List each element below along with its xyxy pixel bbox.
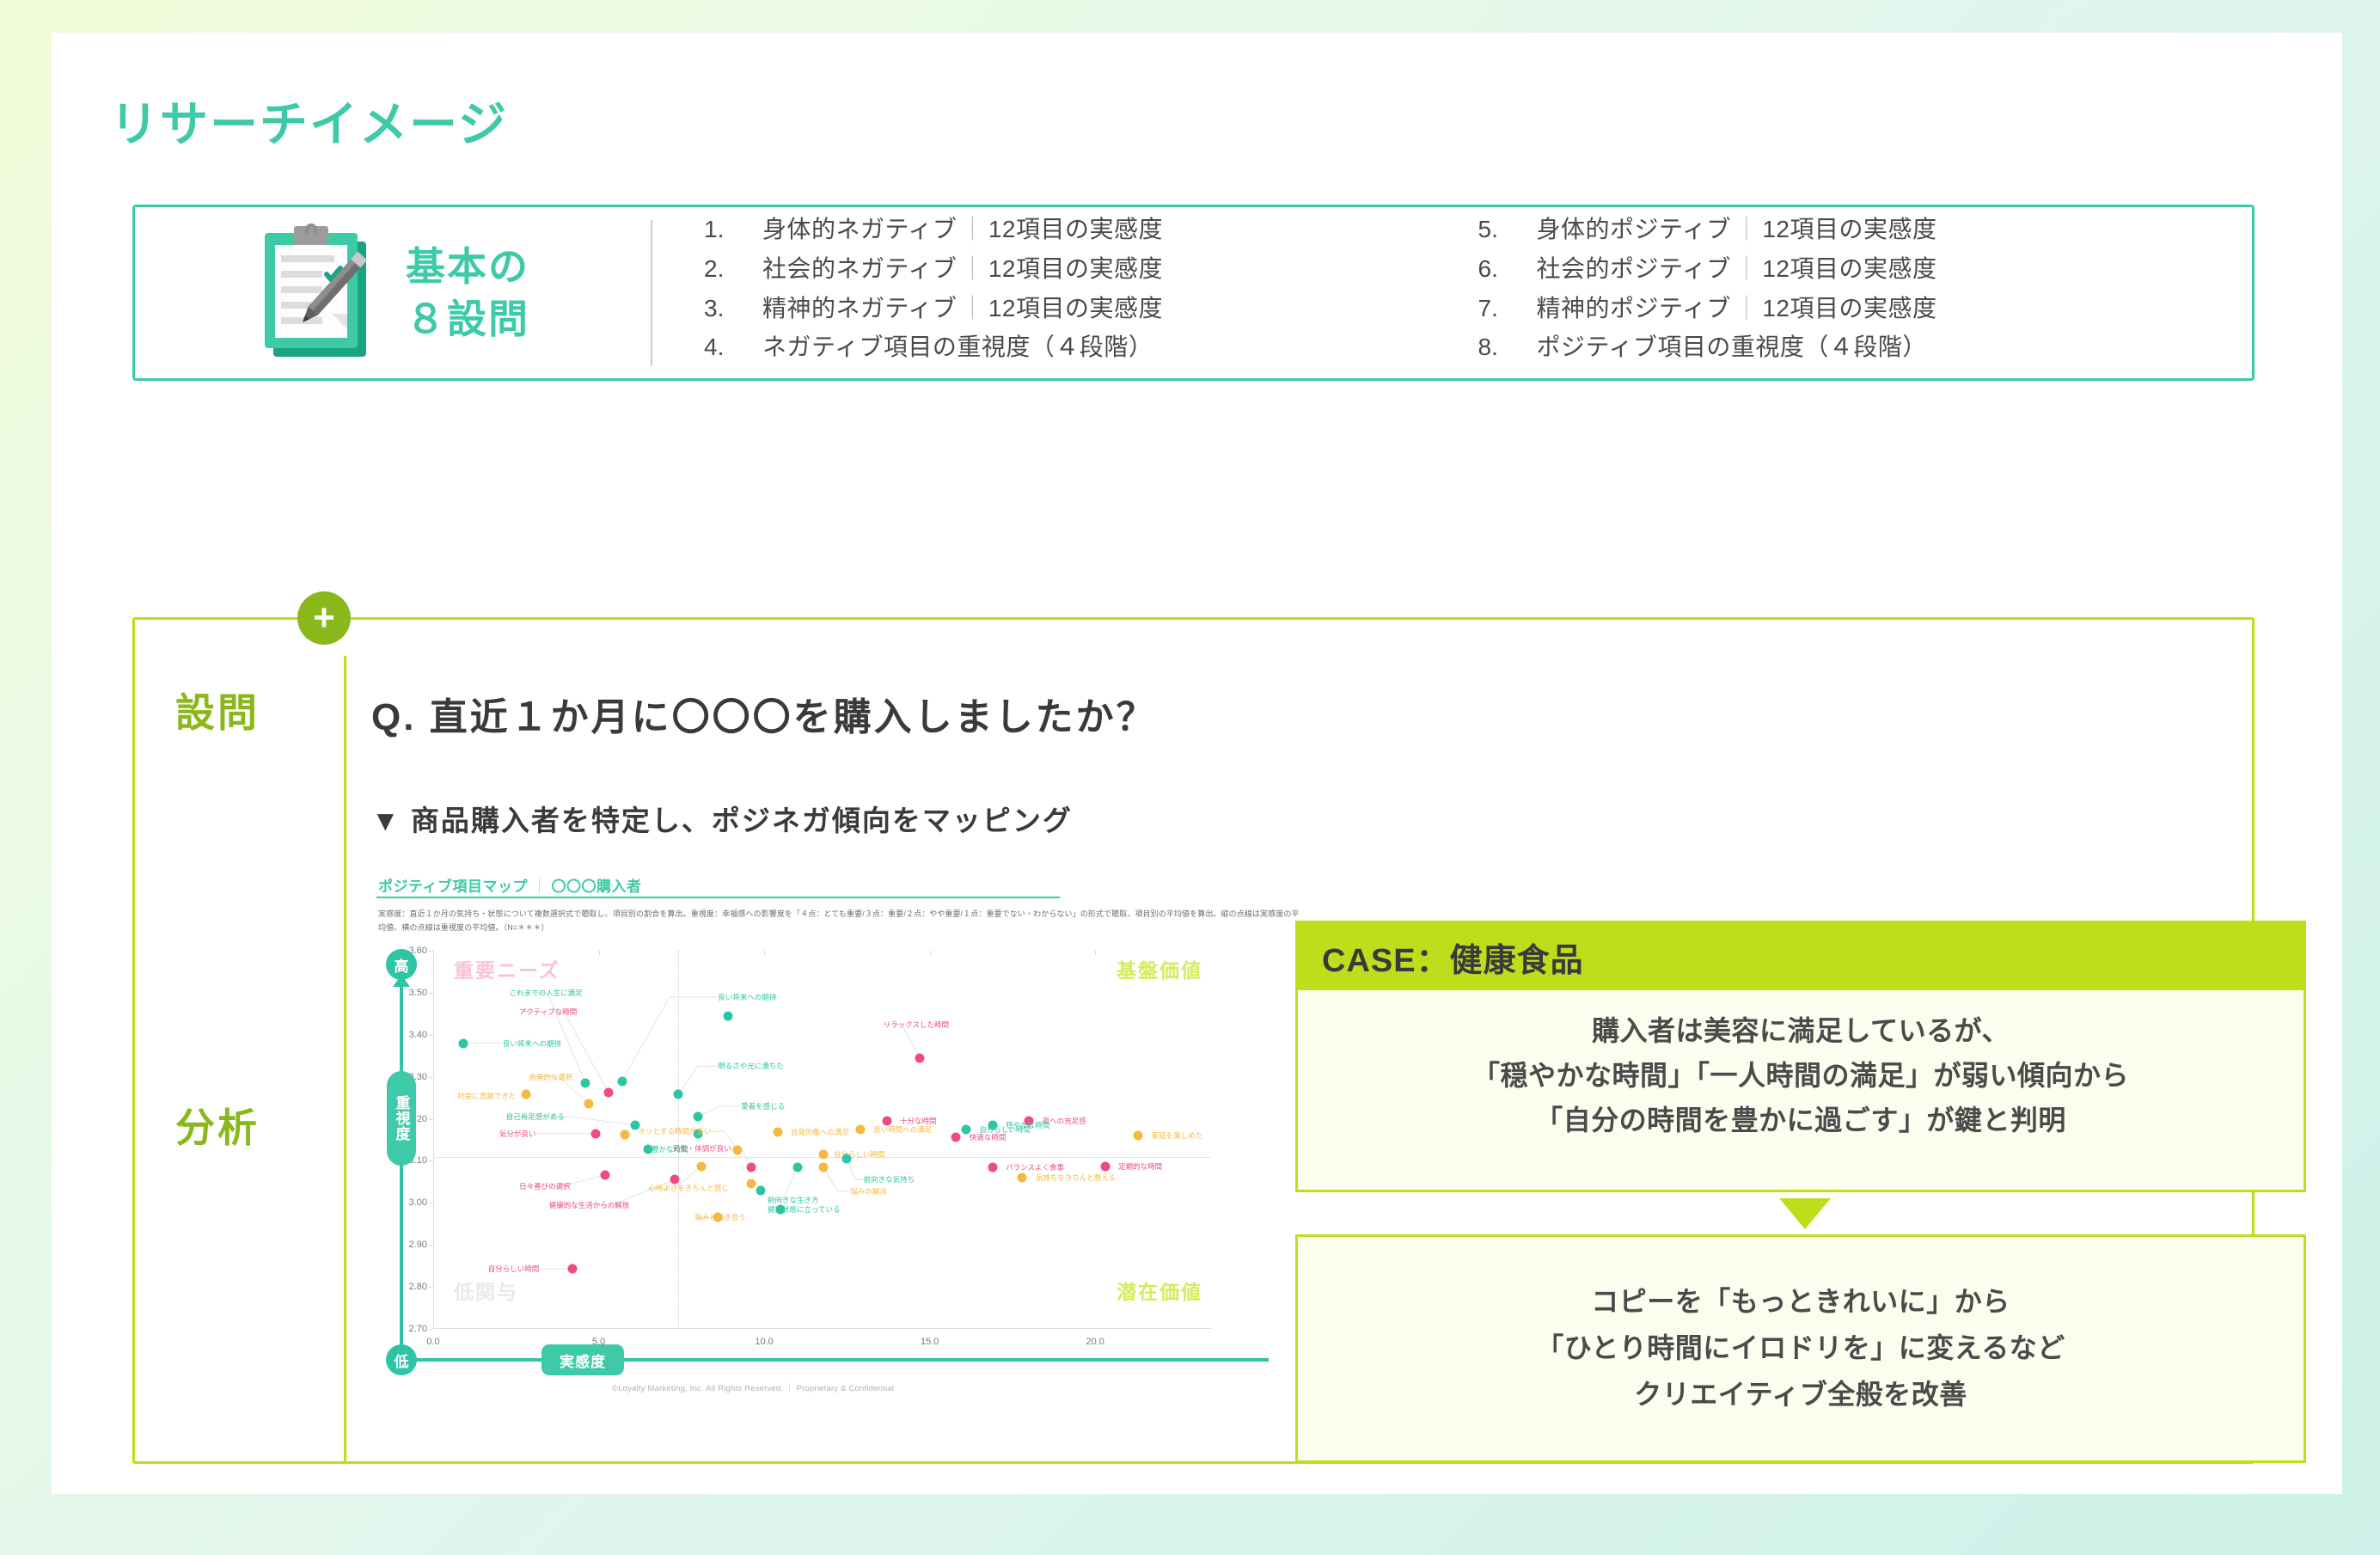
question-text: 精神的ポジティブ｜12項目の実感度 [1537,293,1937,325]
question-number: 2. [704,254,762,285]
slide-card: リサーチイメージ [52,33,2342,1494]
scatter-point-label: 気持ちをきちんと整える [1036,1172,1116,1183]
scatter-point-label: 自己肯定感がある [506,1111,565,1122]
scatter-point[interactable] [673,1090,682,1099]
scatter-chart: 重要ニーズ 基盤価値 低関与 潜在価値 2.702.802.903.003.10… [433,951,1211,1329]
question-number: 4. [704,332,762,364]
case-panel-line: 「自分の時間を豊かに過ごす」が鍵と判明 [1315,1099,2286,1143]
result-panel: コピーを「もっときれいに」から「ひとり時間にイロドリを」に変えるなどクリエイティ… [1295,1234,2306,1463]
scatter-point[interactable] [746,1162,756,1172]
scatter-point-label: 健康状態に立っている [768,1204,841,1215]
report-title-main: ポジティブ項目マップ [378,879,528,895]
scatter-point-label: 家庭を楽しめた [1152,1130,1203,1141]
question-number: 8. [1478,332,1537,364]
analysis-inner-divider [344,656,346,1464]
question-text: 精神的ネガティブ｜12項目の実感度 [762,293,1163,325]
scatter-point[interactable] [915,1053,925,1062]
question-number: 5. [1478,214,1537,246]
question-text: 社会的ポジティブ｜12項目の実感度 [1537,254,1937,285]
report-title-separator: ｜ [528,879,552,895]
basic-questions-label: 基本の ８設問 [406,241,529,345]
scatter-point[interactable] [1100,1161,1110,1171]
scatter-point[interactable] [694,1112,703,1122]
scatter-point-label: 悩みの解消 [850,1186,887,1197]
scatter-point-label: これまでの人生に満足 [510,988,583,998]
report-title-rule [376,897,1060,898]
scatter-point[interactable] [584,1099,594,1108]
y-axis-tick-label: 3.40 [409,1030,427,1040]
scatter-point-label: 良い将来への期待 [718,992,776,1002]
question-text: 社会的ネガティブ｜12項目の実感度 [762,254,1163,285]
plus-icon: + [297,591,351,645]
scatter-point[interactable] [617,1076,627,1086]
scatter-point-label: 良い将来への期待 [503,1038,561,1049]
result-panel-line: 「ひとり時間にイロドリを」に変えるなど [1536,1325,2065,1372]
scatter-point[interactable] [621,1130,630,1140]
scatter-point[interactable] [1018,1173,1027,1183]
scatter-point-label: 明るさや光に満ちた [718,1061,784,1071]
question-heading: Q. 直近１か月に〇〇〇を購入しましたか？ [371,686,1157,741]
scatter-point-label: 自分らしい時間 [488,1264,540,1274]
report-title-target: 〇〇〇購入者 [551,879,641,895]
scatter-point[interactable] [723,1011,732,1020]
axis-y-cap-low: 低 [386,1344,417,1375]
scatter-point[interactable] [521,1090,530,1099]
question-item: 3.精神的ネガティブ｜12項目の実感度 [704,293,1478,325]
section-label-analysis: 分析 [175,1097,260,1154]
axis-x-line [401,1358,1269,1362]
report-title: ポジティブ項目マップ｜〇〇〇購入者 [378,874,641,896]
question-item: 5.身体的ポジティブ｜12項目の実感度 [1478,214,2253,246]
report-note: 実感度：直近１か月の気持ち・状態について複数選択式で聴取し、項目別の割合を算出。… [378,908,1300,935]
scatter-point-label: 定期的な時間 [1118,1161,1162,1172]
scatter-point[interactable] [458,1038,468,1048]
scatter-point-label: リラックスした時間 [884,1019,949,1030]
scatter-point[interactable] [604,1088,614,1098]
case-panel-header: CASE：健康食品 [1298,923,2304,990]
scatter-point-label: バランスよく食事 [1006,1162,1064,1172]
result-panel-line: クリエイティブ全般を改善 [1536,1372,2065,1418]
scatter-point[interactable] [601,1171,610,1180]
case-panel: CASE：健康食品 購入者は美容に満足しているが、「穏やかな時間」「一人時間の満… [1295,921,2306,1192]
basic-questions-box: 基本の ８設問 1.身体的ネガティブ｜12項目の実感度2.社会的ネガティブ｜12… [132,205,2255,381]
scatter-point[interactable] [696,1161,706,1171]
question-text: 身体的ポジティブ｜12項目の実感度 [1537,214,1937,246]
y-axis-tick-label: 3.00 [409,1197,427,1208]
scatter-point[interactable] [581,1079,590,1088]
question-column-left: 1.身体的ネガティブ｜12項目の実感度2.社会的ネガティブ｜12項目の実感度3.… [704,214,1478,372]
y-axis-tick-label: 2.90 [409,1240,427,1250]
question-item: 2.社会的ネガティブ｜12項目の実感度 [704,254,1478,285]
scatter-point-label: 心地よさをきちんと感じ [648,1183,729,1193]
case-panel-line: 購入者は美容に満足しているが、 [1315,1009,2286,1054]
question-column-right: 5.身体的ポジティブ｜12項目の実感度6.社会的ポジティブ｜12項目の実感度7.… [1478,214,2253,372]
scatter-point-label: 健康的な生活からの解放 [549,1200,630,1210]
scatter-point[interactable] [819,1150,829,1160]
down-arrow-icon [1779,1198,1831,1229]
y-axis-tick-label: 2.80 [409,1282,427,1292]
scatter-point-label: 自発的な選択 [529,1072,573,1082]
scatter-point[interactable] [756,1185,766,1195]
scatter-point-label: 愛着を感じる [741,1101,785,1111]
result-panel-body: コピーを「もっときれいに」から「ひとり時間にイロドリを」に変えるなどクリエイティ… [1519,1279,2083,1417]
question-text: ポジティブ項目の重視度（４段階） [1537,332,1927,364]
question-item: 4.ネガティブ項目の重視度（４段階） [704,332,1478,364]
scatter-point[interactable] [567,1264,577,1274]
scatter-point[interactable] [842,1154,852,1164]
scatter-point-label: 元気・体調が良い [673,1143,731,1154]
scatter-point-label: 快適な時間 [970,1132,1006,1142]
case-panel-line: 「穏やかな時間」「一人時間の満足」が弱い傾向から [1315,1054,2286,1099]
y-axis-tick-label: 2.70 [409,1324,427,1334]
scatter-point-label: ホッとする時間が多い [639,1126,712,1136]
scatter-point[interactable] [951,1132,961,1142]
x-axis-tick-label: 15.0 [921,1337,939,1347]
scatter-point[interactable] [855,1124,865,1134]
scatter-point[interactable] [792,1162,802,1172]
question-number: 3. [704,293,762,325]
basic-questions-brand: 基本の ８設問 [135,221,651,365]
scatter-point-label: 気分が良い [499,1129,536,1139]
scatter-point-label: 良い時間への満足 [873,1124,932,1135]
question-number: 7. [1478,293,1537,325]
axis-x-badge: 実感度 [541,1344,624,1375]
scatter-point[interactable] [988,1162,997,1172]
basic-label-line2: ８設問 [406,293,529,346]
scatter-point-label: アクティブな時間 [519,1007,577,1017]
report-footer: ©Loyalty Marketing, Inc. All Rights Rese… [612,1381,894,1393]
page-title: リサーチイメージ [110,86,508,156]
question-item: 1.身体的ネガティブ｜12項目の実感度 [704,214,1478,246]
question-subheading: ▼ 商品購入者を特定し、ポジネガ傾向をマッピング [371,798,1073,839]
basic-questions-list: 1.身体的ネガティブ｜12項目の実感度2.社会的ネガティブ｜12項目の実感度3.… [652,214,2252,372]
embedded-report: ポジティブ項目マップ｜〇〇〇購入者 実感度：直近１か月の気持ち・状態について複数… [371,866,1300,1434]
question-text: ネガティブ項目の重視度（４段階） [762,332,1153,364]
scatter-point-label: 社会に貢献できた [457,1091,516,1101]
question-item: 8.ポジティブ項目の重視度（４段階） [1478,332,2253,364]
question-item: 7.精神的ポジティブ｜12項目の実感度 [1478,293,2253,325]
clipboard-checklist-pen-icon [256,221,383,365]
scatter-point[interactable] [819,1162,829,1172]
question-number: 1. [704,214,762,246]
scatter-point[interactable] [590,1129,600,1138]
scatter-point-label: 自発的働への満足 [791,1127,849,1137]
scatter-point-label: 日々喜びの選択 [519,1181,571,1191]
question-text: 身体的ネガティブ｜12項目の実感度 [762,214,1163,246]
question-number: 6. [1478,254,1537,285]
x-axis-tick-label: 10.0 [755,1337,773,1347]
question-item: 6.社会的ポジティブ｜12項目の実感度 [1478,254,2253,285]
basic-label-line1: 基本の [406,241,529,293]
scatter-point[interactable] [746,1178,756,1188]
scatter-point[interactable] [1134,1131,1143,1141]
scatter-point-label: 前向きな気持ち [864,1174,915,1185]
axis-y-badge: 重視度 [387,1071,416,1166]
x-axis-tick-label: 20.0 [1086,1337,1104,1347]
scatter-point[interactable] [773,1128,782,1137]
axis-y-cap-high: 高 [386,949,417,980]
x-axis-tick-label: 0.0 [426,1337,439,1347]
scatter-point-label: 悩みと向き合う [694,1212,746,1222]
scatter-point[interactable] [733,1146,743,1155]
y-axis-tick-mark [429,1329,433,1330]
section-label-question: 設問 [175,682,260,738]
case-panel-body: 購入者は美容に満足しているが、「穏やかな時間」「一人時間の満足」が弱い傾向から「… [1298,990,2304,1142]
y-axis-tick-label: 3.50 [409,988,427,998]
result-panel-line: コピーを「もっときれいに」から [1536,1279,2065,1325]
